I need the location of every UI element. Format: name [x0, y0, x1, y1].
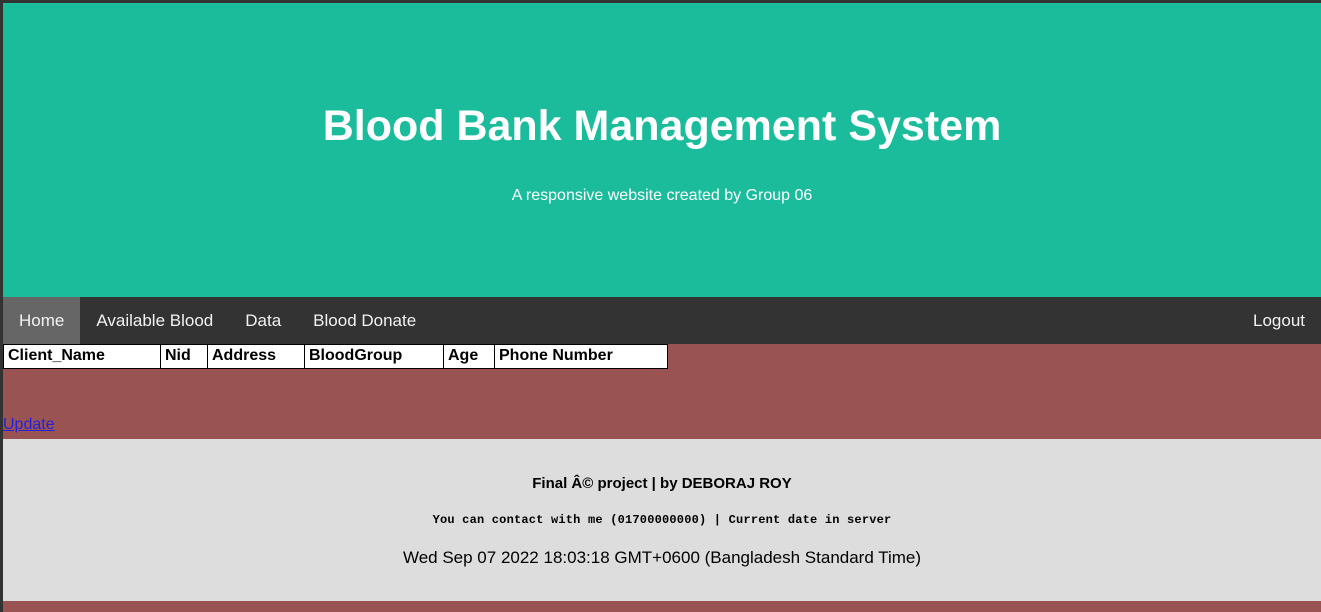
nav-item-available-blood[interactable]: Available Blood: [80, 297, 229, 344]
column-header-phone-number: Phone Number: [495, 345, 668, 369]
main-navbar: Home Available Blood Data Blood Donate L…: [3, 297, 1321, 344]
navbar-right-group: Logout: [1237, 297, 1321, 344]
footer-contact: You can contact with me (01700000000) | …: [3, 492, 1321, 527]
page-title: Blood Bank Management System: [3, 103, 1321, 150]
nav-item-blood-donate[interactable]: Blood Donate: [297, 297, 432, 344]
client-table-head: Client_Name Nid Address BloodGroup Age P…: [4, 345, 668, 369]
main-content: Client_Name Nid Address BloodGroup Age P…: [3, 344, 1321, 439]
column-header-age: Age: [444, 345, 495, 369]
page-footer: Final Â© project | by DEBORAJ ROY You ca…: [3, 439, 1321, 601]
nav-item-logout[interactable]: Logout: [1237, 297, 1321, 344]
column-header-nid: Nid: [161, 345, 208, 369]
update-link-container: Update: [3, 369, 1321, 439]
update-link[interactable]: Update: [3, 416, 55, 433]
client-table: Client_Name Nid Address BloodGroup Age P…: [3, 344, 668, 369]
footer-server-date: Wed Sep 07 2022 18:03:18 GMT+0600 (Bangl…: [3, 527, 1321, 568]
hero-banner: Blood Bank Management System A responsiv…: [3, 3, 1321, 297]
navbar-left-group: Home Available Blood Data Blood Donate: [3, 297, 432, 344]
nav-item-home[interactable]: Home: [3, 297, 80, 344]
nav-item-data[interactable]: Data: [229, 297, 297, 344]
page-root: Blood Bank Management System A responsiv…: [3, 3, 1321, 612]
footer-credit: Final Â© project | by DEBORAJ ROY: [3, 475, 1321, 492]
column-header-client-name: Client_Name: [4, 345, 161, 369]
column-header-bloodgroup: BloodGroup: [305, 345, 444, 369]
table-header-row: Client_Name Nid Address BloodGroup Age P…: [4, 345, 668, 369]
column-header-address: Address: [208, 345, 305, 369]
hero-subtitle: A responsive website created by Group 06: [3, 150, 1321, 205]
